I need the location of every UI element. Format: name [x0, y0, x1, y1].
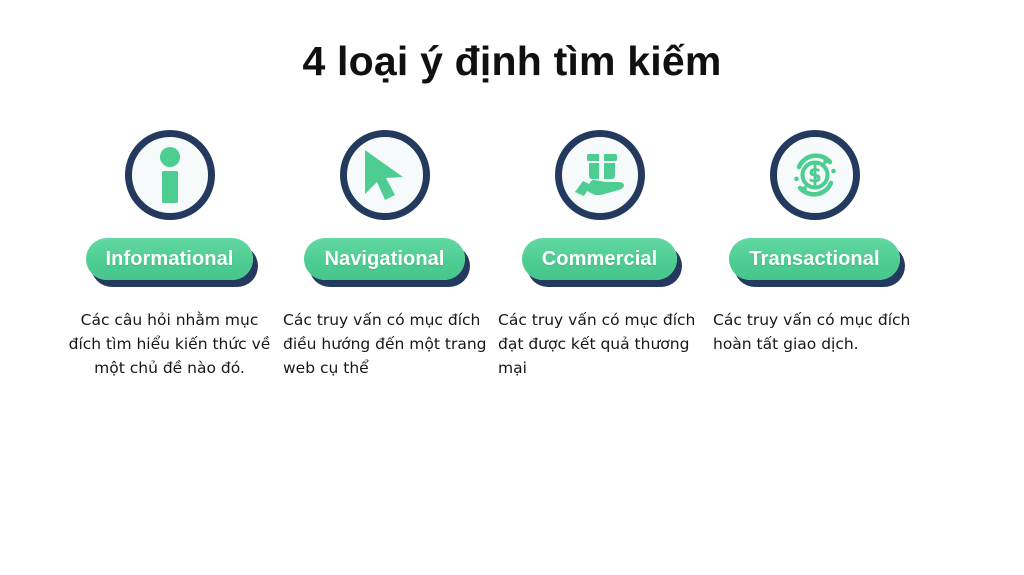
intent-label-commercial[interactable]: Commercial [522, 238, 678, 280]
intent-label-navigational[interactable]: Navigational [304, 238, 464, 280]
icon-circle-informational [125, 130, 215, 220]
intent-columns: Informational Các câu hỏi nhằm mục đích … [62, 130, 962, 380]
dollar-refresh-icon: S [786, 146, 844, 204]
intent-description-informational: Các câu hỏi nhằm mục đích tìm hiểu kiến … [62, 308, 277, 380]
icon-circle-navigational [340, 130, 430, 220]
label-pill-container: Commercial [492, 238, 707, 294]
info-icon [147, 147, 193, 203]
intent-column-navigational: Navigational Các truy vấn có mục đích đi… [277, 130, 492, 380]
intent-description-commercial: Các truy vấn có mục đích đạt được kết qu… [492, 308, 707, 380]
icon-circle-commercial [555, 130, 645, 220]
intent-column-commercial: Commercial Các truy vấn có mục đích đạt … [492, 130, 707, 380]
intent-column-informational: Informational Các câu hỏi nhằm mục đích … [62, 130, 277, 380]
hand-holding-box-icon [571, 150, 629, 200]
icon-container [492, 130, 707, 226]
intent-column-transactional: S Transactional Các truy vấn có mục đích… [707, 130, 922, 356]
label-pill-container: Transactional [707, 238, 922, 294]
intent-label-transactional[interactable]: Transactional [729, 238, 899, 280]
icon-container [62, 130, 277, 226]
icon-container: S [707, 130, 922, 226]
label-pill-container: Navigational [277, 238, 492, 294]
label-pill-container: Informational [62, 238, 277, 294]
infographic-canvas: 4 loại ý định tìm kiếm Informational Các… [0, 0, 1024, 575]
cursor-arrow-icon [359, 147, 411, 203]
icon-container [277, 130, 492, 226]
intent-description-navigational: Các truy vấn có mục đích điều hướng đến … [277, 308, 492, 380]
intent-label-informational[interactable]: Informational [86, 238, 254, 280]
page-title: 4 loại ý định tìm kiếm [0, 38, 1024, 85]
intent-description-transactional: Các truy vấn có mục đích hoàn tất giao d… [707, 308, 922, 356]
icon-circle-transactional: S [770, 130, 860, 220]
